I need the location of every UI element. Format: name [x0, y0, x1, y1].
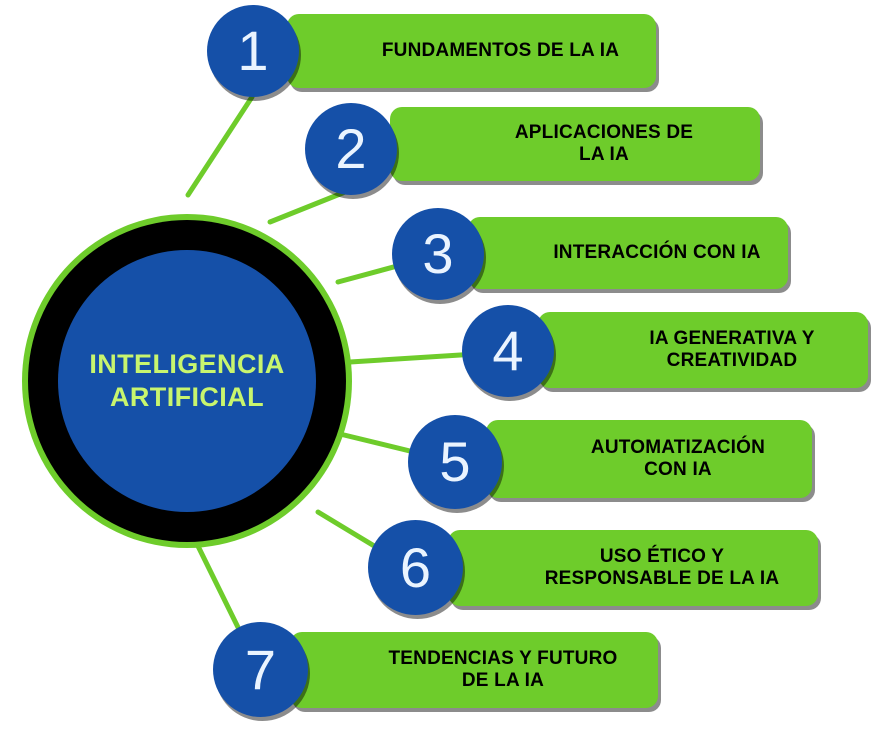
topic-number-3: 3: [422, 226, 453, 282]
central-node-ring: INTELIGENCIA ARTIFICIAL: [28, 220, 346, 542]
topic-bar-4[interactable]: IA GENERATIVA Y CREATIVIDAD: [538, 312, 868, 388]
topic-bar-6[interactable]: USO ÉTICO Y RESPONSABLE DE LA IA: [448, 530, 818, 606]
topic-number-bubble-3[interactable]: 3: [392, 208, 484, 300]
topic-bar-7[interactable]: TENDENCIAS Y FUTURO DE LA IA: [290, 632, 658, 708]
connector-line-1: [188, 97, 252, 195]
topic-bar-2[interactable]: APLICACIONES DE LA IA: [390, 107, 760, 181]
topic-number-6: 6: [400, 540, 431, 596]
central-node-core: INTELIGENCIA ARTIFICIAL: [58, 250, 316, 512]
topic-label-3: INTERACCIÓN CON IA: [553, 242, 760, 264]
topic-number-4: 4: [492, 323, 523, 379]
topic-number-bubble-2[interactable]: 2: [305, 103, 397, 195]
topic-number-bubble-1[interactable]: 1: [207, 5, 299, 97]
topic-bar-1[interactable]: FUNDAMENTOS DE LA IA: [287, 14, 656, 88]
topic-number-7: 7: [245, 642, 276, 698]
topic-label-2: APLICACIONES DE LA IA: [515, 122, 693, 167]
topic-number-bubble-6[interactable]: 6: [368, 520, 463, 615]
central-node[interactable]: INTELIGENCIA ARTIFICIAL: [22, 214, 352, 548]
topic-number-bubble-5[interactable]: 5: [408, 415, 502, 509]
topic-number-bubble-7[interactable]: 7: [213, 622, 308, 717]
topic-number-5: 5: [439, 434, 470, 490]
connector-line-2: [270, 190, 350, 222]
topic-number-1: 1: [237, 23, 268, 79]
topic-label-5: AUTOMATIZACIÓN CON IA: [591, 437, 765, 482]
topic-number-2: 2: [335, 121, 366, 177]
concept-map-diagram: INTELIGENCIA ARTIFICIAL FUNDAMENTOS DE L…: [0, 0, 895, 730]
central-node-label: INTELIGENCIA ARTIFICIAL: [89, 348, 284, 414]
topic-bar-5[interactable]: AUTOMATIZACIÓN CON IA: [486, 420, 812, 498]
topic-label-7: TENDENCIAS Y FUTURO DE LA IA: [388, 648, 617, 693]
topic-number-bubble-4[interactable]: 4: [462, 305, 554, 397]
topic-label-6: USO ÉTICO Y RESPONSABLE DE LA IA: [545, 546, 780, 591]
topic-label-4: IA GENERATIVA Y CREATIVIDAD: [649, 328, 814, 373]
topic-label-1: FUNDAMENTOS DE LA IA: [382, 40, 619, 62]
topic-bar-3[interactable]: INTERACCIÓN CON IA: [468, 217, 788, 289]
